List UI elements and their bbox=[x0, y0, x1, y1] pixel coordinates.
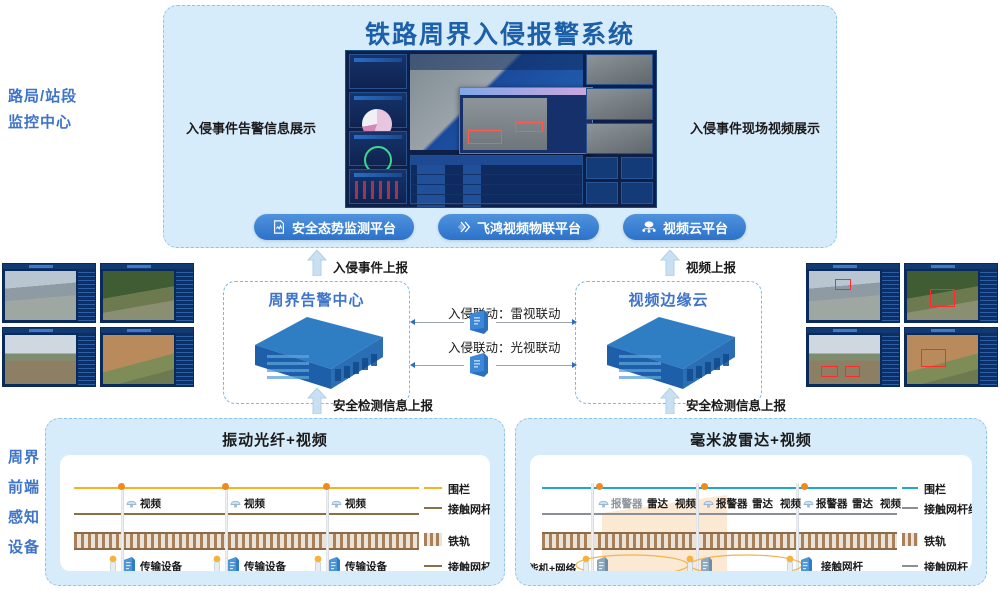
legend-label-rail: 铁轨 bbox=[448, 533, 470, 549]
linkage-arrow-right-bottom bbox=[572, 362, 577, 368]
detection-box bbox=[515, 122, 543, 132]
transmission-device-icon bbox=[226, 556, 241, 571]
dashboard-bar-card bbox=[349, 169, 407, 204]
linkage-arrow-left-top bbox=[410, 319, 415, 325]
monitoring-center-panel: 铁路周界入侵报警系统 入侵事件告警信息展示 入侵事件现场视频展示 bbox=[163, 5, 837, 248]
legend-swatch-catenary-bottom bbox=[424, 565, 442, 567]
video-scene-tunnel-entrance bbox=[907, 271, 978, 320]
stage-label-perimeter-front-end: 周界 前端 感知 设备 bbox=[8, 443, 42, 563]
node-label-alarm: 报警器 bbox=[716, 496, 748, 511]
linkage-label-fiber-video: 入侵联动：光视联动 bbox=[448, 337, 561, 356]
platform-button-feihong-video-iot[interactable]: 飞鸿视频物联平台 bbox=[438, 214, 599, 240]
node-label-radar: 雷达 bbox=[852, 496, 873, 511]
dashboard-thumbnail bbox=[586, 123, 653, 154]
node-label-alarm: 报警器 bbox=[816, 496, 848, 511]
legend-label-rail: 铁轨 bbox=[924, 533, 946, 549]
front-end-label-line-1: 前端 bbox=[8, 473, 42, 503]
system-title: 铁路周界入侵报警系统 bbox=[164, 15, 836, 51]
platform-label: 安全态势监测平台 bbox=[292, 218, 396, 237]
video-sidepanel bbox=[176, 269, 193, 322]
dashboard-alarm-modal bbox=[459, 87, 593, 154]
beacon-icon bbox=[684, 555, 696, 571]
dashboard-pie-card bbox=[349, 92, 407, 127]
linkage-arrow-left-bottom bbox=[410, 362, 415, 368]
arrow-label-safety-detection-left: 安全检测信息上报 bbox=[333, 395, 433, 414]
fence-node-dot bbox=[596, 483, 603, 490]
legend-swatch-fence bbox=[424, 487, 442, 489]
legend-swatch-catenary-pole bbox=[902, 565, 918, 567]
legend-label-catenary-line: 接触网杆线 bbox=[924, 501, 972, 517]
video-wall-left bbox=[2, 263, 194, 387]
double-diamond-icon bbox=[456, 220, 471, 234]
table-row bbox=[411, 185, 582, 195]
legend-swatch-catenary-top bbox=[424, 507, 442, 509]
dashboard-right-column bbox=[586, 54, 653, 204]
beacon-icon bbox=[312, 555, 324, 571]
node-label-video: 视频 bbox=[140, 496, 161, 511]
beacon-icon bbox=[580, 555, 592, 571]
node-label-radar: 雷达 bbox=[647, 496, 668, 511]
node-label-video: 视频 bbox=[675, 496, 696, 511]
catenary-pole-label: 接触网杆 bbox=[821, 559, 863, 571]
edge-device-label: 能机+网络 bbox=[530, 561, 576, 571]
node-label-video: 视频 bbox=[345, 496, 366, 511]
video-scene-landslide bbox=[103, 335, 174, 384]
arrow-safety-detection-report-left bbox=[307, 388, 327, 414]
linkage-line-left-top bbox=[414, 322, 464, 323]
vibration-fiber-panel: 振动光纤+视频 视频 bbox=[45, 418, 505, 586]
linkage-device-chip-bottom bbox=[466, 351, 492, 384]
fence-node-dot bbox=[323, 483, 330, 490]
table-row bbox=[411, 195, 582, 205]
legend-label-catenary-bottom: 接触网杆线 bbox=[448, 559, 490, 571]
video-sidepanel bbox=[980, 269, 997, 322]
beacon-icon bbox=[211, 555, 223, 571]
camera-icon bbox=[331, 496, 342, 514]
diagram-stage: 路局/站段 监控中心 周界 前端 感知 设备 铁路周界入侵报警系统 入侵事件告警… bbox=[0, 0, 1000, 591]
fence-node-dot bbox=[222, 483, 229, 490]
edge-device-icon bbox=[595, 556, 610, 571]
mmwave-radar-panel: 毫米波雷达+视频 报警器 雷达 bbox=[515, 418, 987, 586]
dashboard-thumbnail bbox=[586, 88, 653, 119]
detection-box bbox=[921, 349, 946, 367]
table-row bbox=[411, 165, 582, 175]
video-scene-railway-bridge bbox=[5, 271, 76, 320]
rail-track bbox=[74, 532, 419, 550]
legend-label-fence-top: 围栏 bbox=[924, 481, 946, 497]
video-thumbnail[interactable] bbox=[100, 263, 194, 323]
front-end-label-line-3: 设备 bbox=[8, 533, 42, 563]
fence-node-dot bbox=[118, 483, 125, 490]
video-sidepanel bbox=[980, 333, 997, 386]
linkage-line-left-bottom bbox=[414, 365, 464, 366]
legend-label-catenary-pole: 接触网杆 bbox=[924, 559, 968, 571]
node-label-video: 视频 bbox=[880, 496, 901, 511]
monitoring-center-line-2: 监控中心 bbox=[8, 110, 118, 136]
arrow-video-report bbox=[660, 250, 680, 276]
arrow-label-safety-detection-right: 安全检测信息上报 bbox=[686, 395, 786, 414]
transmission-device-icon bbox=[799, 556, 814, 571]
transmission-device-icon bbox=[327, 556, 342, 571]
legend-swatch-rail bbox=[902, 533, 918, 546]
vibration-fiber-title: 振动光纤+视频 bbox=[46, 429, 504, 450]
video-sidepanel bbox=[78, 269, 95, 322]
device-label-transmission: 传输设备 bbox=[244, 559, 286, 571]
server-rack-icon bbox=[599, 315, 739, 398]
mmwave-radar-scene: 报警器 雷达 视频 报警器 雷达 视频 报警器 雷达 视频 能机+网络 bbox=[530, 455, 972, 571]
platform-label: 视频云平台 bbox=[663, 218, 728, 237]
video-thumbnail[interactable] bbox=[806, 263, 900, 323]
cloud-node-icon bbox=[641, 220, 657, 234]
video-thumbnail[interactable] bbox=[806, 327, 900, 387]
platform-button-video-cloud[interactable]: 视频云平台 bbox=[623, 214, 746, 240]
camera-icon bbox=[230, 496, 241, 514]
video-scene-flooded-track bbox=[5, 335, 76, 384]
video-thumbnail[interactable] bbox=[2, 327, 96, 387]
stage-label-monitoring-center: 路局/站段 监控中心 bbox=[8, 84, 118, 136]
alarm-info-caption: 入侵事件告警信息展示 bbox=[186, 118, 316, 137]
legend-swatch-fence-top bbox=[902, 487, 918, 489]
linkage-device-chip-top bbox=[466, 308, 492, 341]
edge-device-icon bbox=[699, 556, 714, 571]
camera-icon bbox=[598, 496, 609, 514]
node-label-radar: 雷达 bbox=[752, 496, 773, 511]
detection-box bbox=[835, 279, 851, 290]
rail-track bbox=[542, 532, 897, 550]
camera-icon bbox=[803, 496, 814, 514]
device-label-transmission: 传输设备 bbox=[140, 559, 182, 571]
front-end-label-line-0: 周界 bbox=[8, 443, 42, 473]
dashboard-thumbnail-grid bbox=[586, 157, 653, 204]
platform-label: 飞鸿视频物联平台 bbox=[477, 218, 581, 237]
dashboard-thumb-cell bbox=[586, 182, 618, 204]
transmission-device-icon bbox=[122, 556, 137, 571]
detection-box bbox=[845, 366, 860, 377]
video-sidepanel bbox=[882, 269, 899, 322]
dashboard-thumb-cell bbox=[586, 157, 618, 179]
dashboard-stat-card bbox=[349, 54, 407, 89]
node-label-video: 视频 bbox=[244, 496, 265, 511]
arrow-intrusion-event-report bbox=[307, 250, 327, 276]
video-scene-flooded-track bbox=[809, 335, 880, 384]
device-label-transmission: 传输设备 bbox=[345, 559, 387, 571]
video-sidepanel bbox=[78, 333, 95, 386]
linkage-line-right-bottom bbox=[496, 365, 574, 366]
legend-label-fence: 围栏 bbox=[448, 481, 470, 497]
chart-document-icon bbox=[272, 220, 286, 234]
catenary-line-top bbox=[542, 513, 897, 515]
dashboard-screenshot bbox=[345, 50, 657, 208]
node-label-video: 视频 bbox=[780, 496, 801, 511]
monitoring-center-line-1: 路局/站段 bbox=[8, 84, 118, 110]
perimeter-alarm-center-title: 周界告警中心 bbox=[224, 289, 409, 310]
modal-snapshot bbox=[463, 98, 547, 150]
linkage-line-right-top bbox=[496, 322, 574, 323]
legend-swatch-catenary-line bbox=[902, 507, 918, 509]
linkage-arrow-right-top bbox=[572, 319, 577, 325]
video-scene-tunnel-entrance bbox=[103, 271, 174, 320]
dashboard-thumb-cell bbox=[621, 182, 653, 204]
video-edge-cloud-title: 视频边缘云 bbox=[576, 289, 761, 310]
detection-box bbox=[930, 289, 955, 307]
linkage-label-radar-video: 入侵联动：雷视联动 bbox=[448, 303, 561, 322]
legend-label-catenary-top: 接触网杆线 bbox=[448, 501, 490, 517]
video-thumbnail[interactable] bbox=[904, 327, 998, 387]
camera-icon bbox=[126, 496, 137, 514]
camera-icon bbox=[703, 496, 714, 514]
video-wall-right bbox=[806, 263, 998, 387]
video-edge-cloud-box: 视频边缘云 bbox=[575, 281, 762, 404]
beacon-icon bbox=[107, 555, 119, 571]
server-rack-icon bbox=[247, 315, 387, 398]
fence-line bbox=[74, 487, 419, 489]
arrow-safety-detection-report-right bbox=[660, 388, 680, 414]
fence-node-dot bbox=[701, 483, 708, 490]
vibration-fiber-scene: 视频 视频 视频 传输设备 传输设备 bbox=[60, 455, 490, 571]
node-label-alarm: 报警器 bbox=[611, 496, 643, 511]
perimeter-alarm-center-box: 周界告警中心 bbox=[223, 281, 410, 404]
legend-swatch-rail bbox=[424, 533, 442, 546]
video-scene-landslide bbox=[907, 335, 978, 384]
video-thumbnail[interactable] bbox=[904, 263, 998, 323]
dashboard-thumbnail bbox=[586, 54, 653, 85]
video-sidepanel bbox=[176, 333, 193, 386]
table-header bbox=[411, 156, 582, 165]
dashboard-gauge-card bbox=[349, 131, 407, 166]
mmwave-radar-title: 毫米波雷达+视频 bbox=[516, 429, 986, 450]
video-thumbnail[interactable] bbox=[100, 327, 194, 387]
dashboard-alarm-table bbox=[410, 155, 583, 204]
fence-node-dot bbox=[801, 483, 808, 490]
detection-box bbox=[468, 130, 502, 144]
table-row bbox=[411, 205, 582, 208]
video-scene-railway-bridge bbox=[809, 271, 880, 320]
detection-box bbox=[821, 366, 838, 377]
video-thumbnail[interactable] bbox=[2, 263, 96, 323]
platform-pill-row: 安全态势监测平台 飞鸿视频物联平台 视频云平台 bbox=[164, 214, 836, 240]
dashboard-left-column bbox=[349, 54, 407, 204]
video-sidepanel bbox=[882, 333, 899, 386]
arrow-label-intrusion-event-report: 入侵事件上报 bbox=[333, 257, 408, 276]
live-video-caption: 入侵事件现场视频展示 bbox=[690, 118, 820, 137]
table-row bbox=[411, 175, 582, 185]
platform-button-security-monitoring[interactable]: 安全态势监测平台 bbox=[254, 214, 414, 240]
beacon-icon bbox=[784, 555, 796, 571]
front-end-label-line-2: 感知 bbox=[8, 503, 42, 533]
dashboard-thumb-cell bbox=[621, 157, 653, 179]
arrow-label-video-report: 视频上报 bbox=[686, 257, 736, 276]
